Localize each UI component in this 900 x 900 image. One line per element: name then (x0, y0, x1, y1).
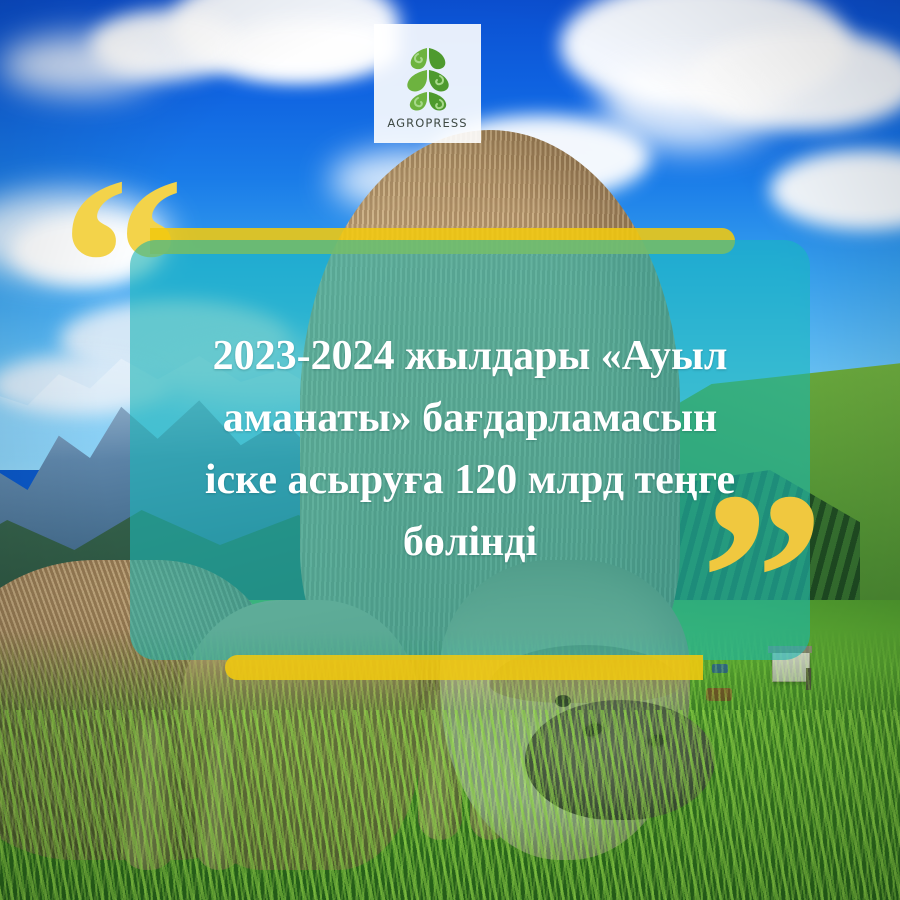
social-post-card: AGROPRESS “ ” 2023-2024 жылдары «Ауыл ам… (0, 0, 900, 900)
cloud (0, 35, 160, 95)
agropress-logo: AGROPRESS (374, 24, 481, 143)
quote-line: 2023-2024 жылдары «Ауыл (120, 325, 820, 387)
cloud (220, 20, 400, 80)
wheat-leaf-icon (394, 38, 462, 112)
quote-text: 2023-2024 жылдары «Ауыл аманаты» бағдарл… (120, 325, 820, 573)
brand-name: AGROPRESS (387, 116, 467, 130)
quote-line: іске асыруға 120 млрд теңге (120, 449, 820, 511)
quote-line: аманаты» бағдарламасын (120, 387, 820, 449)
quote-line: бөлінді (120, 511, 820, 573)
accent-bar-bottom (225, 655, 703, 680)
grass-blades (0, 710, 900, 900)
